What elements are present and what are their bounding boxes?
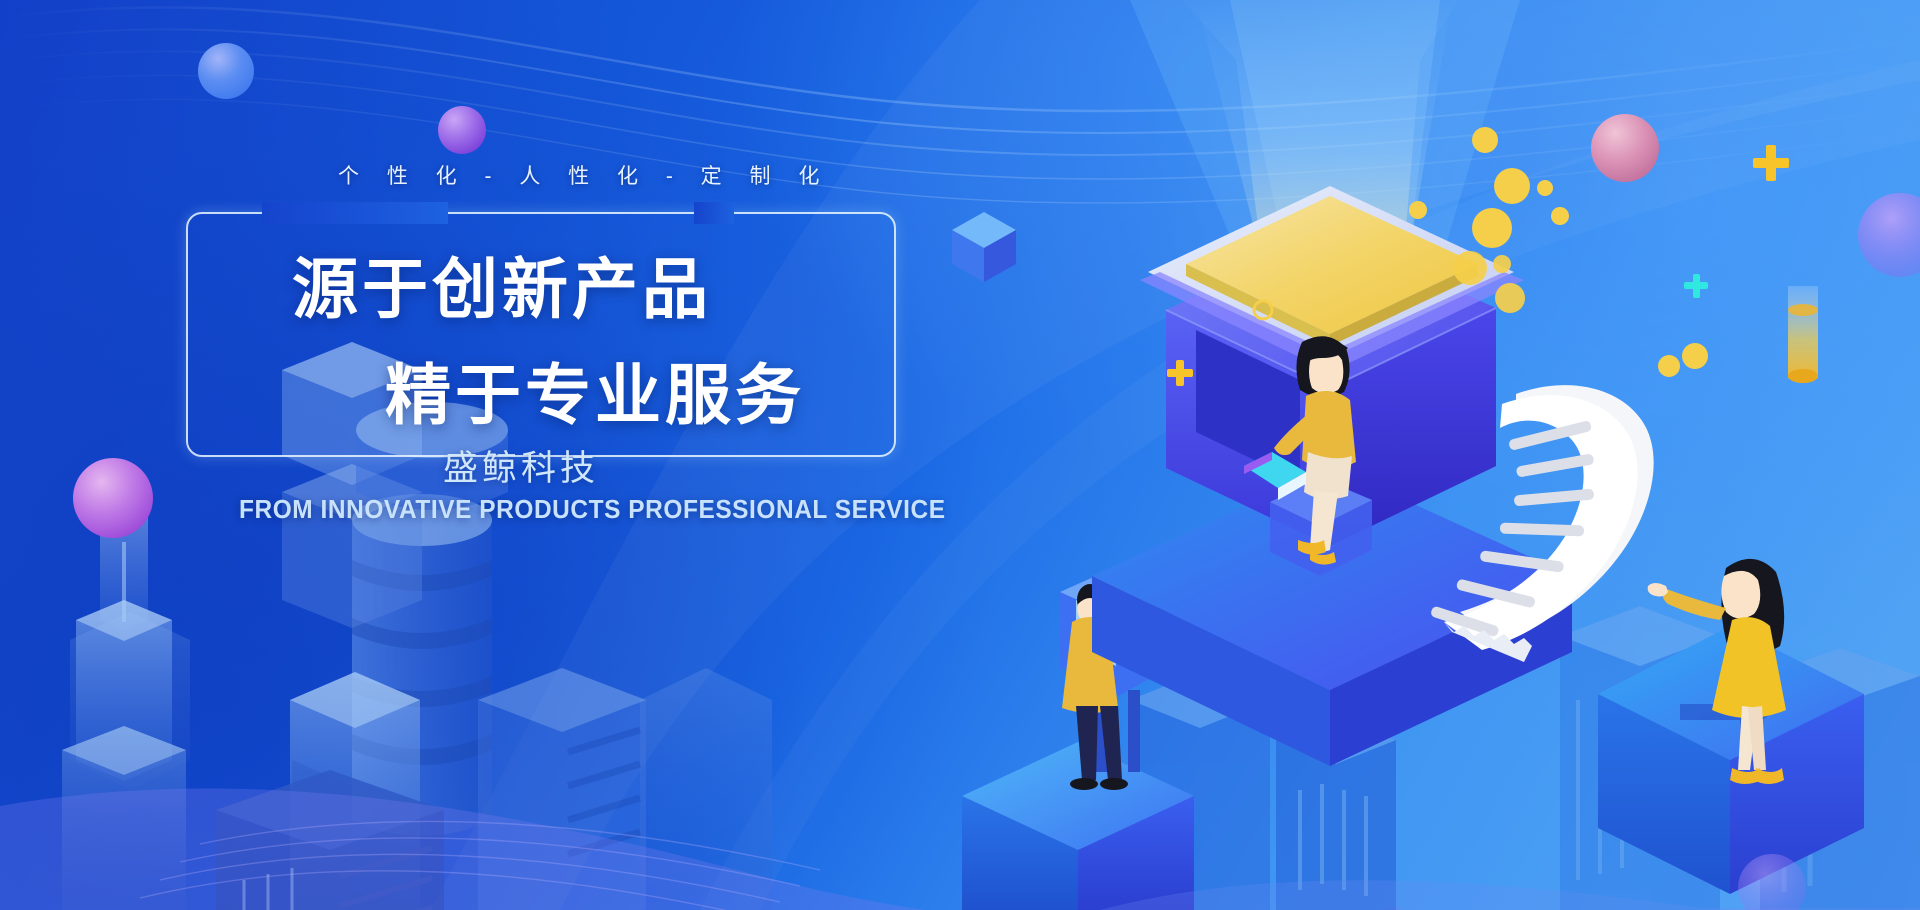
plus-cyan (1684, 274, 1708, 298)
company-name: 盛鲸科技 (443, 440, 599, 491)
hero-banner: 个 性 化 - 人 性 化 - 定 制 化 源于创新产品 精于专业服务 盛鲸科技… (0, 0, 1920, 910)
sphere-violet-bottom (1738, 854, 1806, 910)
sphere-violet-edge (1858, 193, 1920, 277)
cylinder-yellow (1788, 286, 1818, 383)
headline-line-1: 源于创新产品 (292, 236, 712, 332)
sphere-pink (1591, 114, 1659, 182)
frame-notch-top-right (694, 202, 734, 224)
english-tagline: FROM INNOVATIVE PRODUCTS PROFESSIONAL SE… (239, 494, 946, 525)
eyebrow-tagline: 个 性 化 - 人 性 化 - 定 制 化 (338, 160, 718, 190)
hero-text-block: 个 性 化 - 人 性 化 - 定 制 化 源于创新产品 精于专业服务 盛鲸科技… (0, 0, 980, 700)
plus-yellow (1167, 145, 1789, 386)
headline-line-2: 精于专业服务 (385, 342, 805, 438)
frame-notch-top-left (262, 202, 448, 224)
